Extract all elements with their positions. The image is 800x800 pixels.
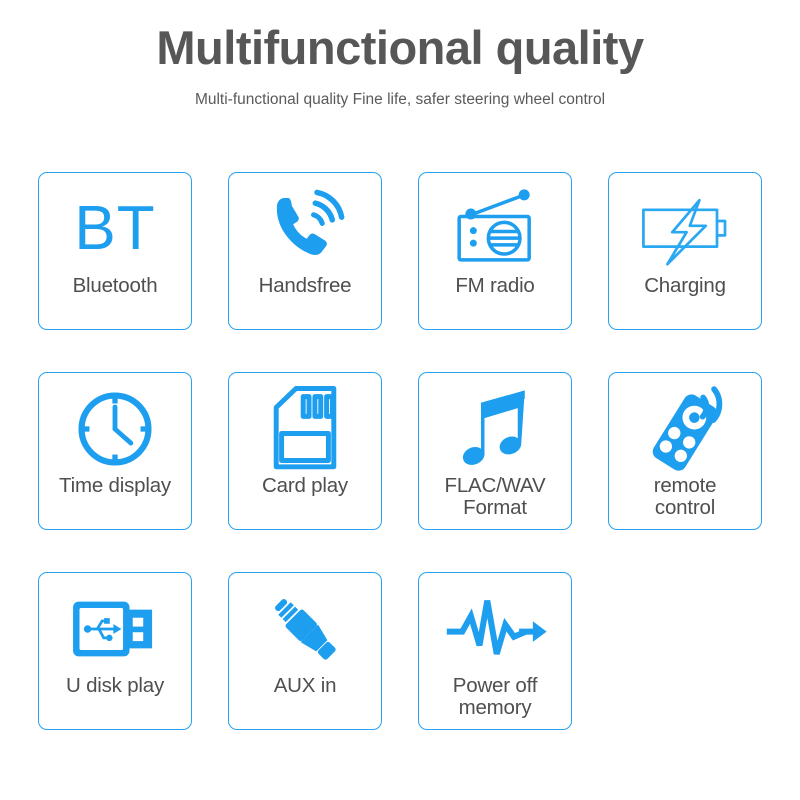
clock-icon xyxy=(39,383,191,475)
feature-tile-label: FM radio xyxy=(419,275,571,297)
feature-tile-label: remote control xyxy=(609,475,761,518)
page-header: Multifunctional quality Multi-functional… xyxy=(0,0,800,109)
feature-tile-fm-radio[interactable]: FM radio xyxy=(418,172,572,330)
feature-tile-label: Time display xyxy=(39,475,191,497)
remote-control-icon xyxy=(609,383,761,475)
feature-tile-bluetooth[interactable]: BT Bluetooth xyxy=(38,172,192,330)
feature-tile-label: U disk play xyxy=(39,675,191,697)
feature-tile-label: Bluetooth xyxy=(39,275,191,297)
feature-highlight-page: Multifunctional quality Multi-functional… xyxy=(0,0,800,800)
feature-tile-label: Power off memory xyxy=(419,675,571,718)
feature-tile-aux-in[interactable]: AUX in xyxy=(228,572,382,730)
phone-waves-icon xyxy=(229,183,381,275)
usb-drive-icon xyxy=(39,583,191,675)
feature-tile-time-display[interactable]: Time display xyxy=(38,372,192,530)
bt-text-icon: BT xyxy=(39,183,191,275)
sd-card-icon xyxy=(229,383,381,475)
feature-tile-label: FLAC/WAV Format xyxy=(419,475,571,518)
feature-tile-flac-wav-format[interactable]: FLAC/WAV Format xyxy=(418,372,572,530)
feature-tile-label: Handsfree xyxy=(229,275,381,297)
page-subtitle: Multi-functional quality Fine life, safe… xyxy=(0,91,800,110)
feature-row: U disk play AUX in xyxy=(38,572,762,730)
feature-tile-u-disk-play[interactable]: U disk play xyxy=(38,572,192,730)
radio-icon xyxy=(419,183,571,275)
waveform-arrow-icon xyxy=(419,583,571,675)
feature-grid: BT Bluetooth Handsfree xyxy=(38,172,762,772)
feature-row: BT Bluetooth Handsfree xyxy=(38,172,762,330)
feature-tile-label: Card play xyxy=(229,475,381,497)
battery-bolt-icon xyxy=(609,183,761,275)
audio-jack-icon xyxy=(229,583,381,675)
feature-tile-remote-control[interactable]: remote control xyxy=(608,372,762,530)
bt-text-icon-label: BT xyxy=(74,198,155,260)
feature-tile-label: Charging xyxy=(609,275,761,297)
feature-tile-power-off-memory[interactable]: Power off memory xyxy=(418,572,572,730)
feature-tile-charging[interactable]: Charging xyxy=(608,172,762,330)
feature-tile-handsfree[interactable]: Handsfree xyxy=(228,172,382,330)
feature-tile-label: AUX in xyxy=(229,675,381,697)
feature-row: Time display Card play xyxy=(38,372,762,530)
music-note-icon xyxy=(419,383,571,475)
page-title: Multifunctional quality xyxy=(0,22,800,75)
feature-tile-card-play[interactable]: Card play xyxy=(228,372,382,530)
